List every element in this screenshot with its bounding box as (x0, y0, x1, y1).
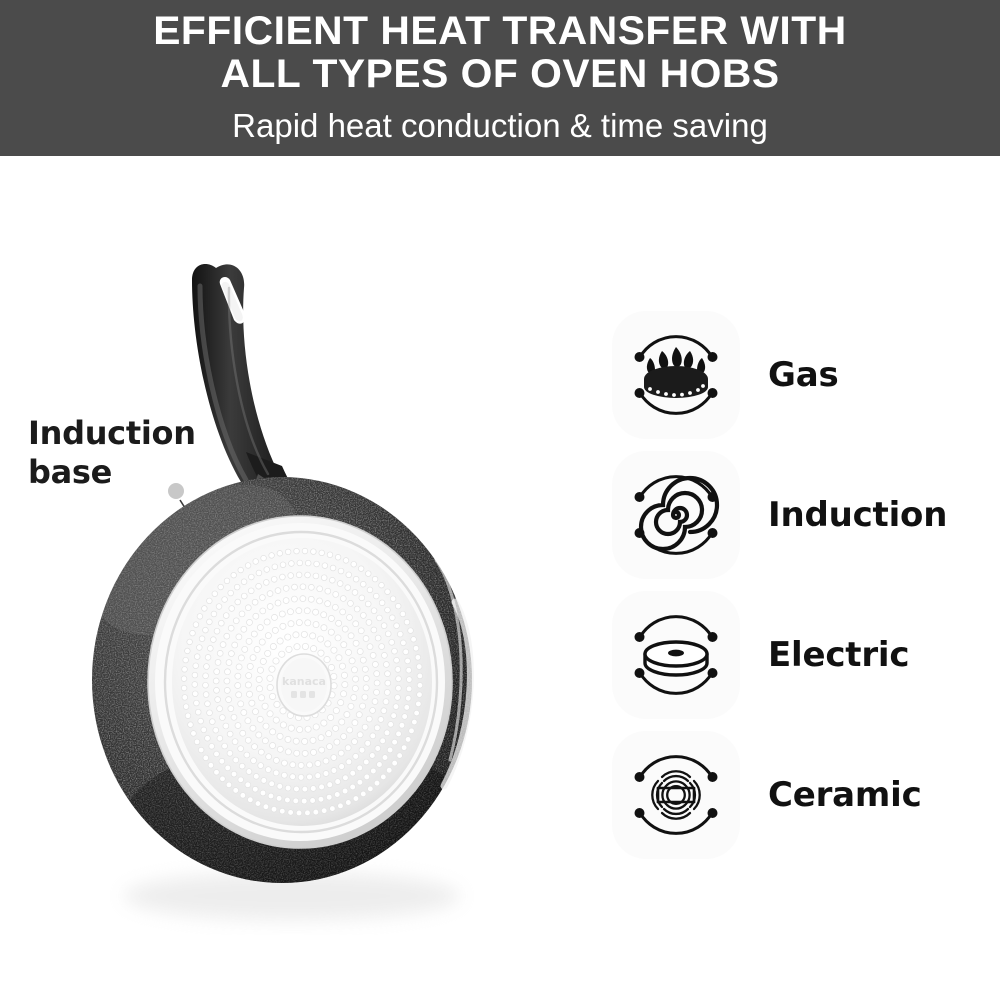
electric-badge (612, 591, 740, 719)
feature-label-gas: Gas (768, 355, 839, 395)
feature-label-electric: Electric (768, 635, 909, 675)
feature-row-electric[interactable]: Electric (612, 585, 1000, 725)
header-title-line-2: ALL TYPES OF OVEN HOBS (220, 53, 779, 96)
feature-row-induction[interactable]: Induction (612, 445, 1000, 585)
feature-label-induction: Induction (768, 495, 947, 535)
brand-logo-text: kanaca (282, 675, 326, 688)
gas-burner-icon (612, 311, 740, 439)
gas-badge (612, 311, 740, 439)
header-title-line-1: EFFICIENT HEAT TRANSFER WITH (153, 10, 846, 53)
product-image-frying-pan: kanaca (0, 230, 580, 950)
feature-label-ceramic: Ceramic (768, 775, 922, 815)
feature-row-ceramic[interactable]: Ceramic (612, 725, 1000, 865)
induction-base-plate: kanaca (148, 516, 452, 848)
ceramic-radiant-icon (612, 731, 740, 859)
hob-compatibility-list: Gas Induction (612, 305, 1000, 865)
header-subtitle: Rapid heat conduction & time saving (232, 108, 768, 144)
induction-badge (612, 451, 740, 579)
electric-hotplate-icon (612, 591, 740, 719)
header-banner: EFFICIENT HEAT TRANSFER WITH ALL TYPES O… (0, 0, 1000, 156)
induction-spiral-icon (612, 451, 740, 579)
feature-row-gas[interactable]: Gas (612, 305, 1000, 445)
infographic-page: EFFICIENT HEAT TRANSFER WITH ALL TYPES O… (0, 0, 1000, 1000)
ceramic-badge (612, 731, 740, 859)
